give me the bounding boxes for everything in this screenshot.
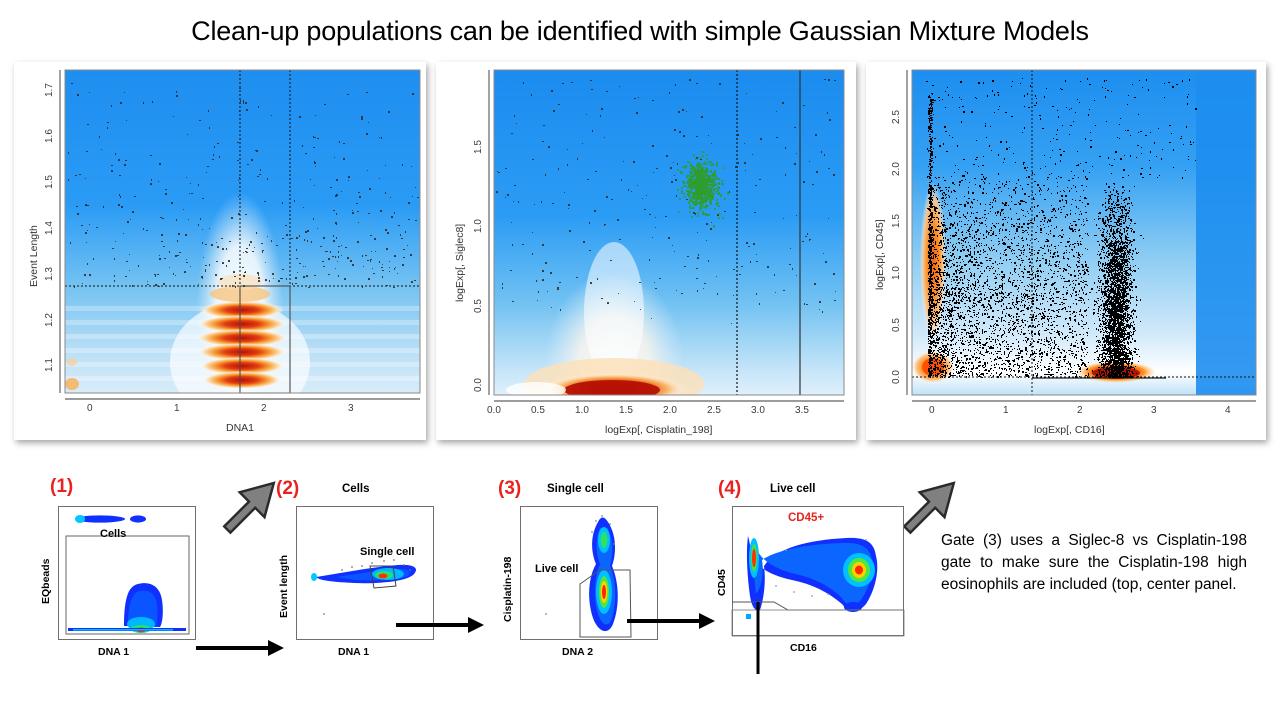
gating-step-3: (3) Single cell Live cell DNA 2 Cisplati… bbox=[492, 474, 692, 704]
gate2-gate-label: Single cell bbox=[360, 546, 414, 558]
gate4-y-axis-label: CD45 bbox=[716, 569, 728, 596]
panel2-eosinophil-cluster bbox=[436, 62, 856, 440]
gating-step-2: (2) Cells Single cell DNA 1 Event length bbox=[262, 474, 462, 704]
gate2-y-axis-label: Event length bbox=[278, 555, 290, 618]
plot-panel-event-length-dna1: 0 1 2 3 1.1 1.2 1.3 1.4 1.5 1.6 1.7 DNA1… bbox=[14, 62, 426, 440]
panel3-y-axis-title: logExp[, CD45] bbox=[874, 219, 886, 290]
gate1-density bbox=[28, 474, 228, 704]
gate3-y-axis-label: Cisplatin-198 bbox=[502, 557, 514, 622]
gating-step-4: (4) Live cell CD45+ CD16 bbox=[716, 474, 916, 720]
gate3-x-axis-label: DNA 2 bbox=[562, 646, 593, 658]
gate4-x-axis-label: CD16 bbox=[790, 642, 817, 654]
flow-arrow-3-4 bbox=[627, 611, 717, 631]
gating-step-1: (1) Cells DNA 1 bbox=[28, 474, 228, 704]
gate2-x-axis-label: DNA 1 bbox=[338, 646, 369, 658]
gate4-gate-label: CD45+ bbox=[788, 512, 824, 524]
slide-root: Clean-up populations can be identified w… bbox=[0, 0, 1280, 720]
panel3-x-axis-title: logExp[, CD16] bbox=[1034, 424, 1105, 436]
gate1-gate-label: Cells bbox=[100, 528, 126, 540]
gate4-density bbox=[716, 474, 916, 720]
panel1-y-axis-title: Event Length bbox=[28, 225, 40, 287]
panel1-scatter-dots bbox=[14, 62, 426, 440]
gate3-density bbox=[492, 474, 692, 704]
gate1-x-axis-label: DNA 1 bbox=[98, 646, 129, 658]
panel3-scatter-dots bbox=[866, 62, 1266, 440]
caption-text: Gate (3) uses a Siglec-8 vs Cisplatin-19… bbox=[941, 530, 1247, 596]
flow-arrow-2-3 bbox=[396, 615, 486, 635]
page-title: Clean-up populations can be identified w… bbox=[0, 16, 1280, 47]
plot-panel-siglec8-cisplatin: 0.0 0.5 1.0 1.5 2.0 2.5 3.0 3.5 0.0 0.5 … bbox=[436, 62, 856, 440]
gate1-y-axis-label: EQbeads bbox=[40, 558, 52, 604]
gate3-gate-label: Live cell bbox=[535, 563, 578, 575]
gate2-density bbox=[262, 474, 462, 704]
panel1-x-axis-title: DNA1 bbox=[226, 422, 254, 434]
panel2-y-axis-title: logExp[, Siglec8] bbox=[454, 224, 466, 302]
plot-panel-cd45-cd16: 0 1 2 3 4 0.0 0.5 1.0 1.5 2.0 2.5 logExp… bbox=[866, 62, 1266, 440]
panel2-x-axis-title: logExp[, Cisplatin_198] bbox=[605, 424, 712, 436]
